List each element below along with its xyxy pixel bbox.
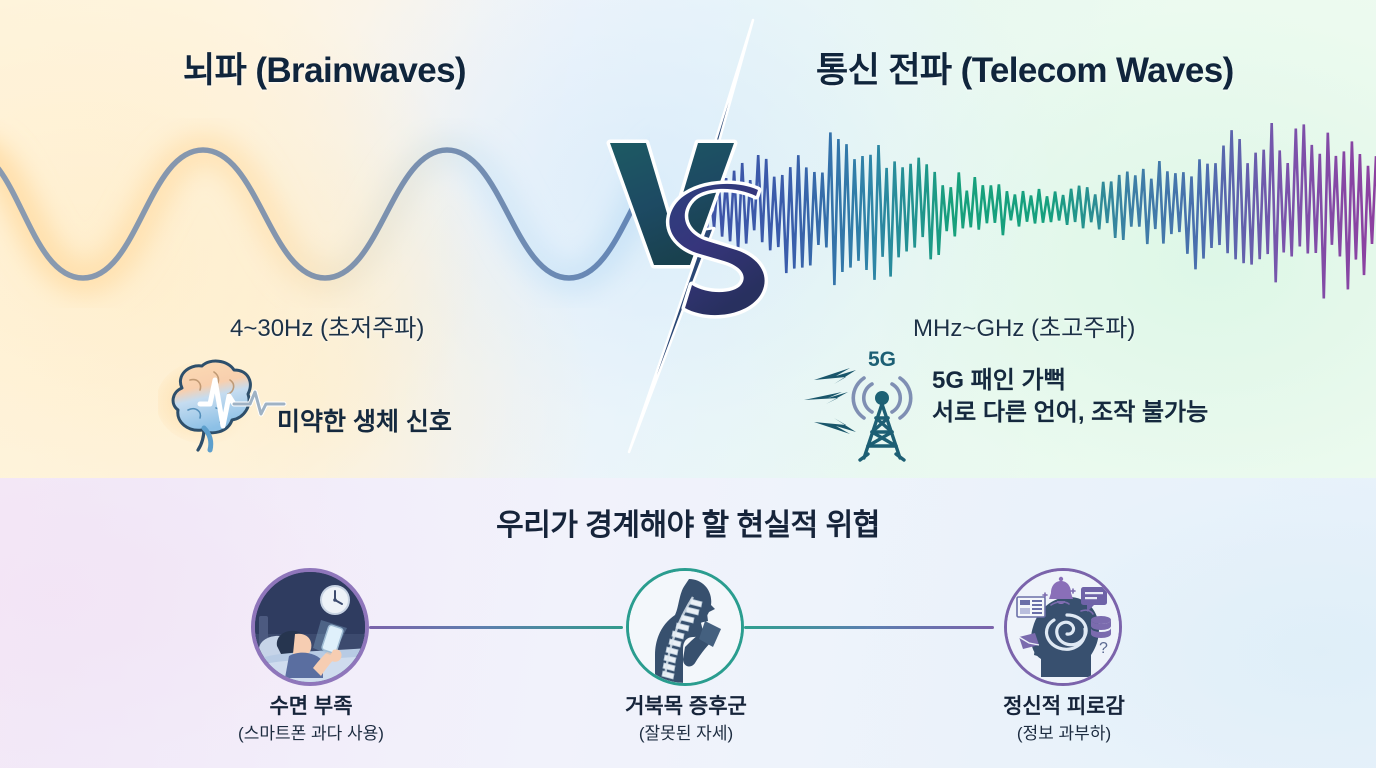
5g-tower-icon: 5G xyxy=(802,342,926,462)
brainwave-sine-wave xyxy=(0,118,648,308)
threat-sublabel-mental-fatigue: (정보 과부하) xyxy=(949,723,1179,746)
threat-caption-mental-fatigue: 정신적 피로감 (정보 과부하) xyxy=(949,694,1179,746)
telecom-description-line2: 서로 다른 언어, 조작 불가능 xyxy=(932,399,1208,426)
threats-title: 우리가 경계해야 할 현실적 위협 xyxy=(0,500,1376,544)
threat-label-mental-fatigue: 정신적 피로감 xyxy=(949,694,1179,720)
left-panel-title: 뇌파 (Brainwaves) xyxy=(183,42,466,93)
infographic-canvas: 뇌파 (Brainwaves) 통신 전파 (Telecom Waves) 4~… xyxy=(0,0,1376,768)
threat-label-text-neck: 거북목 증후군 xyxy=(571,694,801,720)
threat-caption-text-neck: 거북목 증후군 (잘못된 자세) xyxy=(571,694,801,746)
brainwave-description: 미약한 생체 신호 xyxy=(277,406,452,439)
threat-label-sleep: 수면 부족 xyxy=(196,694,426,720)
threat-node-mental-fatigue[interactable]: ? xyxy=(1004,568,1122,686)
telecom-description-line1: 5G 패인 가뻑 xyxy=(932,367,1066,394)
text-neck-spine-icon xyxy=(629,571,741,683)
connector-line-2 xyxy=(744,626,994,629)
vs-divider xyxy=(586,0,816,478)
threat-caption-sleep: 수면 부족 (스마트폰 과다 사용) xyxy=(196,694,426,746)
brain-ecg-icon xyxy=(158,352,288,456)
telecom-description: 5G 패인 가뻑 서로 다른 언어, 조작 불가능 xyxy=(932,365,1208,428)
threat-sublabel-sleep: (스마트폰 과다 사용) xyxy=(196,723,426,746)
telecom-frequency-label: MHz~GHz (초고주파) xyxy=(913,308,1135,343)
threat-sublabel-text-neck: (잘못된 자세) xyxy=(571,723,801,746)
threat-node-sleep[interactable] xyxy=(251,568,369,686)
right-panel-title: 통신 전파 (Telecom Waves) xyxy=(816,42,1234,93)
person-in-bed-with-phone-icon xyxy=(255,572,367,684)
threat-node-text-neck[interactable] xyxy=(626,568,744,686)
svg-text:?: ? xyxy=(1099,640,1108,657)
5g-tower-label: 5G xyxy=(868,348,896,371)
head-information-overload-icon: ? xyxy=(1007,571,1119,683)
comparison-panel: 뇌파 (Brainwaves) 통신 전파 (Telecom Waves) 4~… xyxy=(0,0,1376,478)
connector-line-1 xyxy=(369,626,623,629)
brainwave-frequency-label: 4~30Hz (초저주파) xyxy=(230,308,424,343)
